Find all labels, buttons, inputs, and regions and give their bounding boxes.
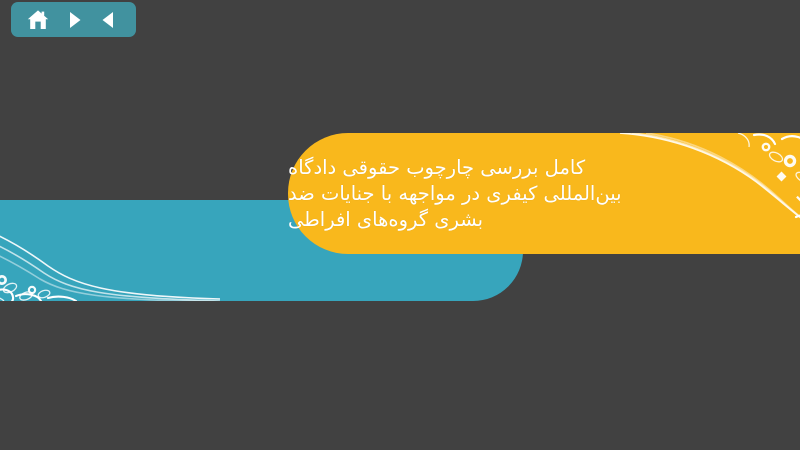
slide-title: کامل بررسی چارچوب حقوقی دادگاه بین‌الملل…: [288, 133, 800, 254]
title-line-3: بشری گروه‌های افراطی: [288, 207, 483, 233]
navigation-toolbar: [11, 2, 136, 37]
title-line-1: کامل بررسی چارچوب حقوقی دادگاه: [288, 155, 585, 181]
slide-canvas: کامل بررسی چارچوب حقوقی دادگاه بین‌الملل…: [0, 0, 800, 450]
home-icon[interactable]: [25, 7, 51, 33]
forward-triangle-icon[interactable]: [61, 7, 87, 33]
arabesque-ornament-bottom-left: [0, 200, 220, 301]
title-line-2: بین‌المللی کیفری در مواجهه با جنایات ضد: [288, 181, 622, 207]
back-triangle-icon[interactable]: [96, 7, 122, 33]
